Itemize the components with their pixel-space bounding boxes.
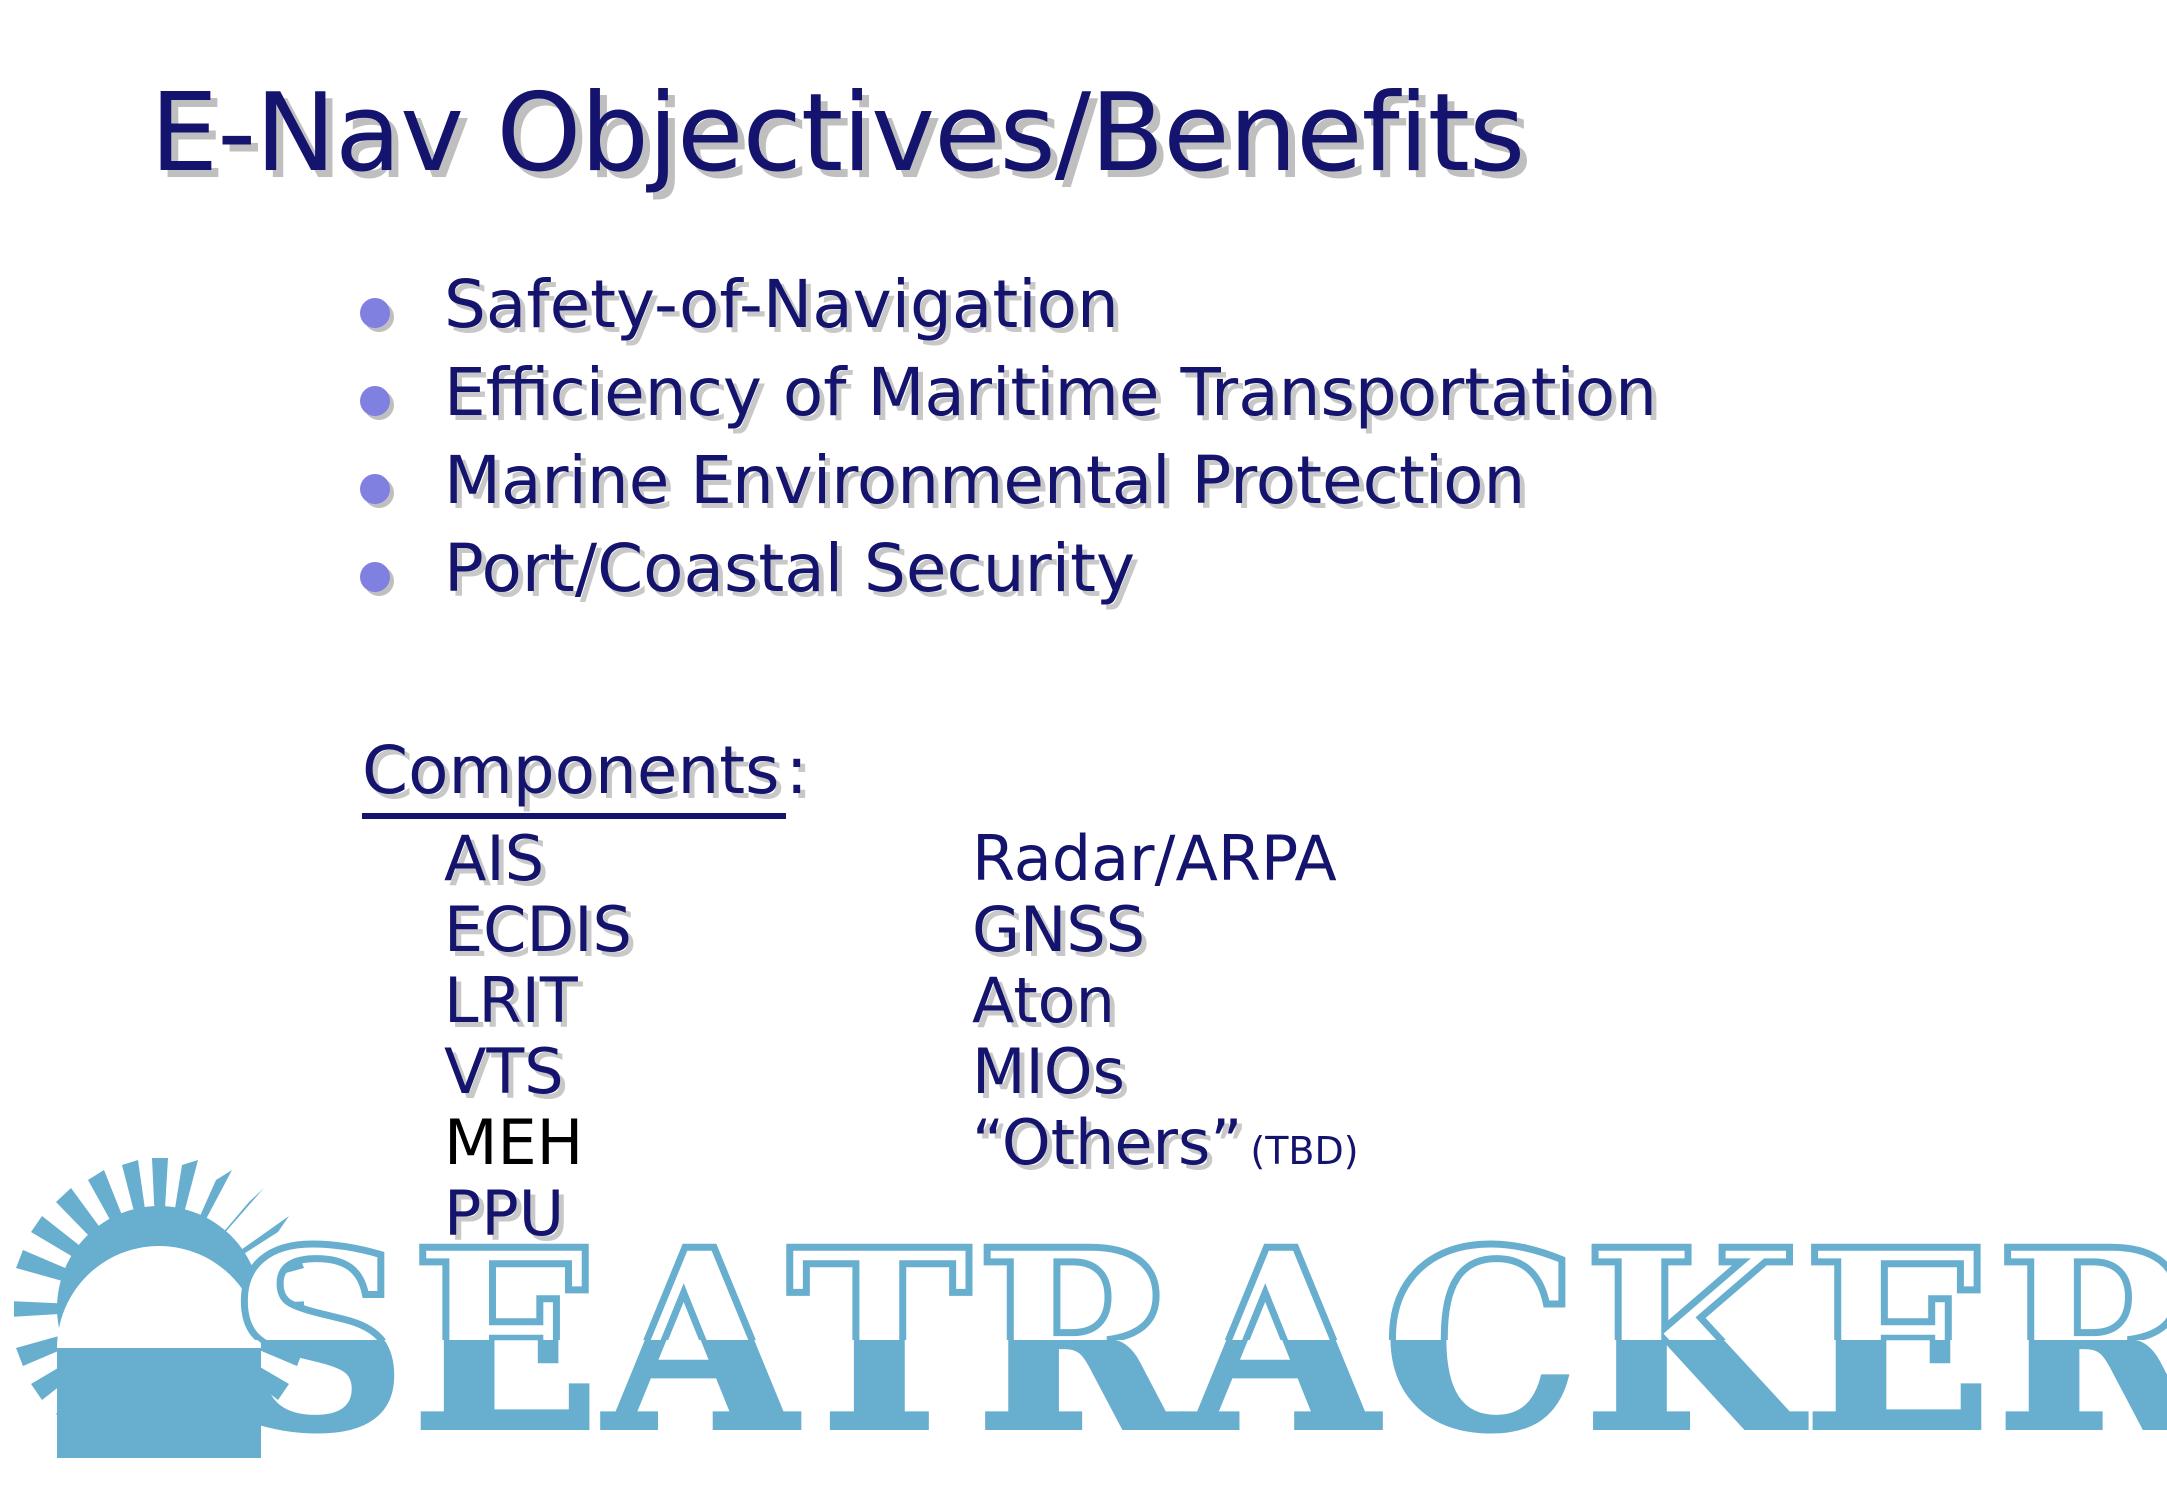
component-name-left: AIS bbox=[444, 828, 544, 890]
list-item: Efficiency of Maritime Transportation bbox=[360, 360, 2060, 448]
components-row: VTS MIOs bbox=[444, 1041, 1744, 1112]
components-row: PPU bbox=[444, 1183, 1744, 1254]
list-item-label: Safety-of-Navigation bbox=[444, 272, 1119, 338]
list-item-label: Efficiency of Maritime Transportation bbox=[444, 360, 1657, 426]
component-tbd-note: (TBD) bbox=[1242, 1129, 1358, 1173]
list-item: Safety-of-Navigation bbox=[360, 272, 2060, 360]
component-name-left: ECDIS bbox=[444, 899, 632, 961]
component-name-left: LRIT bbox=[444, 970, 578, 1032]
components-heading: Components: bbox=[362, 738, 808, 804]
component-name-left: MEH bbox=[444, 1112, 583, 1174]
components-row: AIS Radar/ARPA bbox=[444, 828, 1744, 899]
component-name-right: Aton bbox=[972, 970, 1115, 1032]
components-row: ECDIS GNSS bbox=[444, 899, 1744, 970]
list-item-label: Port/Coastal Security bbox=[444, 536, 1135, 602]
list-item: Marine Environmental Protection bbox=[360, 448, 2060, 536]
component-name-left: VTS bbox=[444, 1041, 564, 1103]
components-list: AIS Radar/ARPA ECDIS GNSS LRIT Aton VTS … bbox=[444, 828, 1744, 1254]
objectives-bullet-list: Safety-of-Navigation Efficiency of Marit… bbox=[360, 272, 2060, 624]
component-name-right: Radar/ARPA bbox=[972, 828, 1337, 890]
components-row: MEH “Others”(TBD) bbox=[444, 1112, 1744, 1183]
list-item-label: Marine Environmental Protection bbox=[444, 448, 1525, 514]
component-name-left: PPU bbox=[444, 1183, 564, 1245]
component-name-right: GNSS bbox=[972, 899, 1145, 961]
bullet-dot-icon bbox=[360, 386, 392, 418]
list-item: Port/Coastal Security bbox=[360, 536, 2060, 624]
bullet-dot-icon bbox=[360, 562, 392, 594]
component-name-right: MIOs bbox=[972, 1041, 1125, 1103]
page-title: E-Nav Objectives/Benefits bbox=[150, 80, 2050, 188]
components-heading-label: Components bbox=[362, 732, 786, 819]
component-name-right: “Others”(TBD) bbox=[972, 1112, 1359, 1174]
sun-over-horizon-logo-icon bbox=[14, 1158, 304, 1458]
bullet-dot-icon bbox=[360, 298, 392, 330]
component-name-right-label: “Others” bbox=[972, 1106, 1242, 1179]
components-heading-colon: : bbox=[786, 732, 808, 809]
slide-canvas: E-Nav Objectives/Benefits Safety-of-Navi… bbox=[0, 0, 2167, 1498]
bullet-dot-icon bbox=[360, 474, 392, 506]
components-row: LRIT Aton bbox=[444, 970, 1744, 1041]
